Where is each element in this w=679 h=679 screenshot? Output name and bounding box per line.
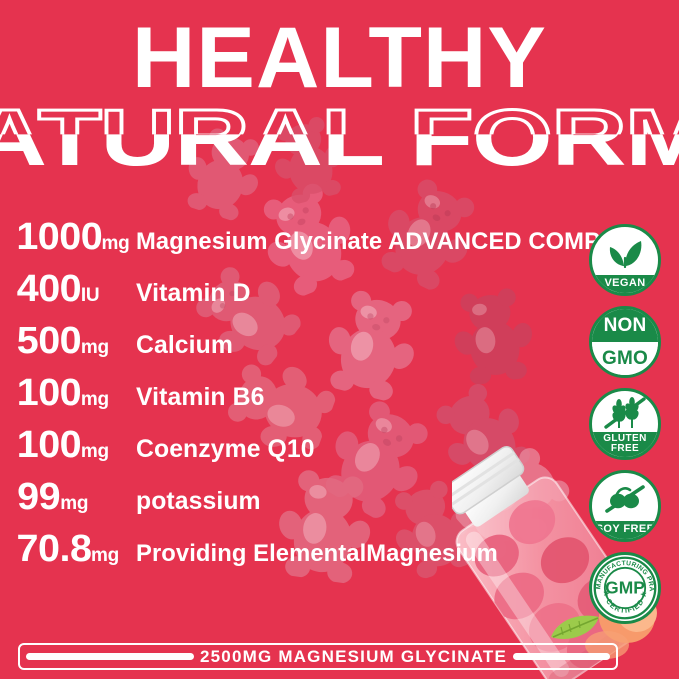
badge-vegan-label: VEGAN <box>592 275 658 293</box>
ingredient-name: Vitamin D <box>136 279 251 308</box>
gmp-seal-icon: GOOD MANUFACTURING PRACTICE ★ CERTIFIED … <box>592 552 658 624</box>
gummy-bear <box>263 111 353 208</box>
ingredient-list: 1000mg Magnesium Glycinate ADVANCED COMP… <box>18 216 578 580</box>
badge-non-gmo: NON GMO <box>589 306 661 378</box>
badge-gluten-free-line2: FREE <box>611 443 639 454</box>
badge-gluten-free: GLUTEN FREE <box>589 388 661 460</box>
product-image-canvas: HEALTHY NATURAL FORMULA NATURAL FORMULA … <box>0 0 679 679</box>
ingredient-value: 400 <box>17 268 81 311</box>
badge-soy-free-label: SOY FREE <box>592 521 658 539</box>
banner-bar-left <box>26 653 194 660</box>
leaves-icon <box>592 227 658 275</box>
ingredient-amount: 1000mg <box>18 216 136 259</box>
headline-line-1: HEALTHY <box>0 18 679 100</box>
headline-line-2-wrapper: NATURAL FORMULA NATURAL FORMULA <box>0 96 679 180</box>
ingredient-value: 500 <box>17 320 81 363</box>
ingredient-name: Magnesium Glycinate ADVANCED COMPLEX <box>136 228 647 256</box>
ingredient-row: 500mg Calcium <box>18 320 578 372</box>
ingredient-name: potassium <box>136 487 261 516</box>
ingredient-amount: 100mg <box>18 372 136 415</box>
ingredient-name: Coenzyme Q10 <box>136 435 315 464</box>
ingredient-value: 1000 <box>16 216 102 259</box>
badge-vegan: VEGAN <box>589 224 661 296</box>
ingredient-unit: mg <box>81 389 109 410</box>
headline-line-2-outline: NATURAL FORMULA <box>0 96 679 180</box>
soybean-crossed-icon <box>592 473 658 521</box>
ingredient-value: 70.8 <box>17 528 92 571</box>
badge-gmp: GOOD MANUFACTURING PRACTICE ★ CERTIFIED … <box>589 552 661 624</box>
ingredient-value: 100 <box>17 372 81 415</box>
badge-non-gmo-bottom: GMO <box>592 342 658 375</box>
bottom-banner: 2500MG MAGNESIUM GLYCINATE <box>18 643 618 670</box>
ingredient-unit: mg <box>91 545 119 566</box>
ingredient-name: Calcium <box>136 331 233 360</box>
badge-non-gmo-top: NON <box>592 309 658 342</box>
headline-line-2-solid: NATURAL FORMULA <box>0 96 679 180</box>
gummy-bear <box>175 120 274 225</box>
ingredient-unit: mg <box>81 337 109 358</box>
ingredient-row: 70.8mg Providing ElementalMagnesium <box>18 528 578 580</box>
ingredient-unit: mg <box>60 493 88 514</box>
headline-block: HEALTHY NATURAL FORMULA NATURAL FORMULA <box>0 18 679 180</box>
ingredient-amount: 400IU <box>18 268 136 311</box>
banner-bar-right <box>513 653 610 660</box>
ingredient-unit: IU <box>81 285 99 306</box>
gmp-center-text: GMP <box>605 578 645 598</box>
ingredient-row: 100mg Vitamin B6 <box>18 372 578 424</box>
ingredient-name: Providing ElementalMagnesium <box>136 540 498 568</box>
ingredient-value: 99 <box>17 476 60 519</box>
ingredient-unit: mg <box>102 233 130 254</box>
banner-text: 2500MG MAGNESIUM GLYCINATE <box>200 647 507 667</box>
ingredient-unit: mg <box>81 441 109 462</box>
certification-badges: VEGAN NON GMO <box>579 224 671 634</box>
badge-soy-free: SOY FREE <box>589 470 661 542</box>
badge-gluten-free-label: GLUTEN FREE <box>592 432 658 457</box>
ingredient-row: 100mg Coenzyme Q10 <box>18 424 578 476</box>
ingredient-value: 100 <box>17 424 81 467</box>
ingredient-row: 1000mg Magnesium Glycinate ADVANCED COMP… <box>18 216 578 268</box>
wheat-crossed-icon <box>592 391 658 432</box>
ingredient-name: Vitamin B6 <box>136 383 264 412</box>
ingredient-row: 400IU Vitamin D <box>18 268 578 320</box>
ingredient-amount: 70.8mg <box>18 528 136 571</box>
ingredient-amount: 100mg <box>18 424 136 467</box>
ingredient-amount: 500mg <box>18 320 136 363</box>
ingredient-amount: 99mg <box>18 476 136 519</box>
ingredient-row: 99mg potassium <box>18 476 578 528</box>
